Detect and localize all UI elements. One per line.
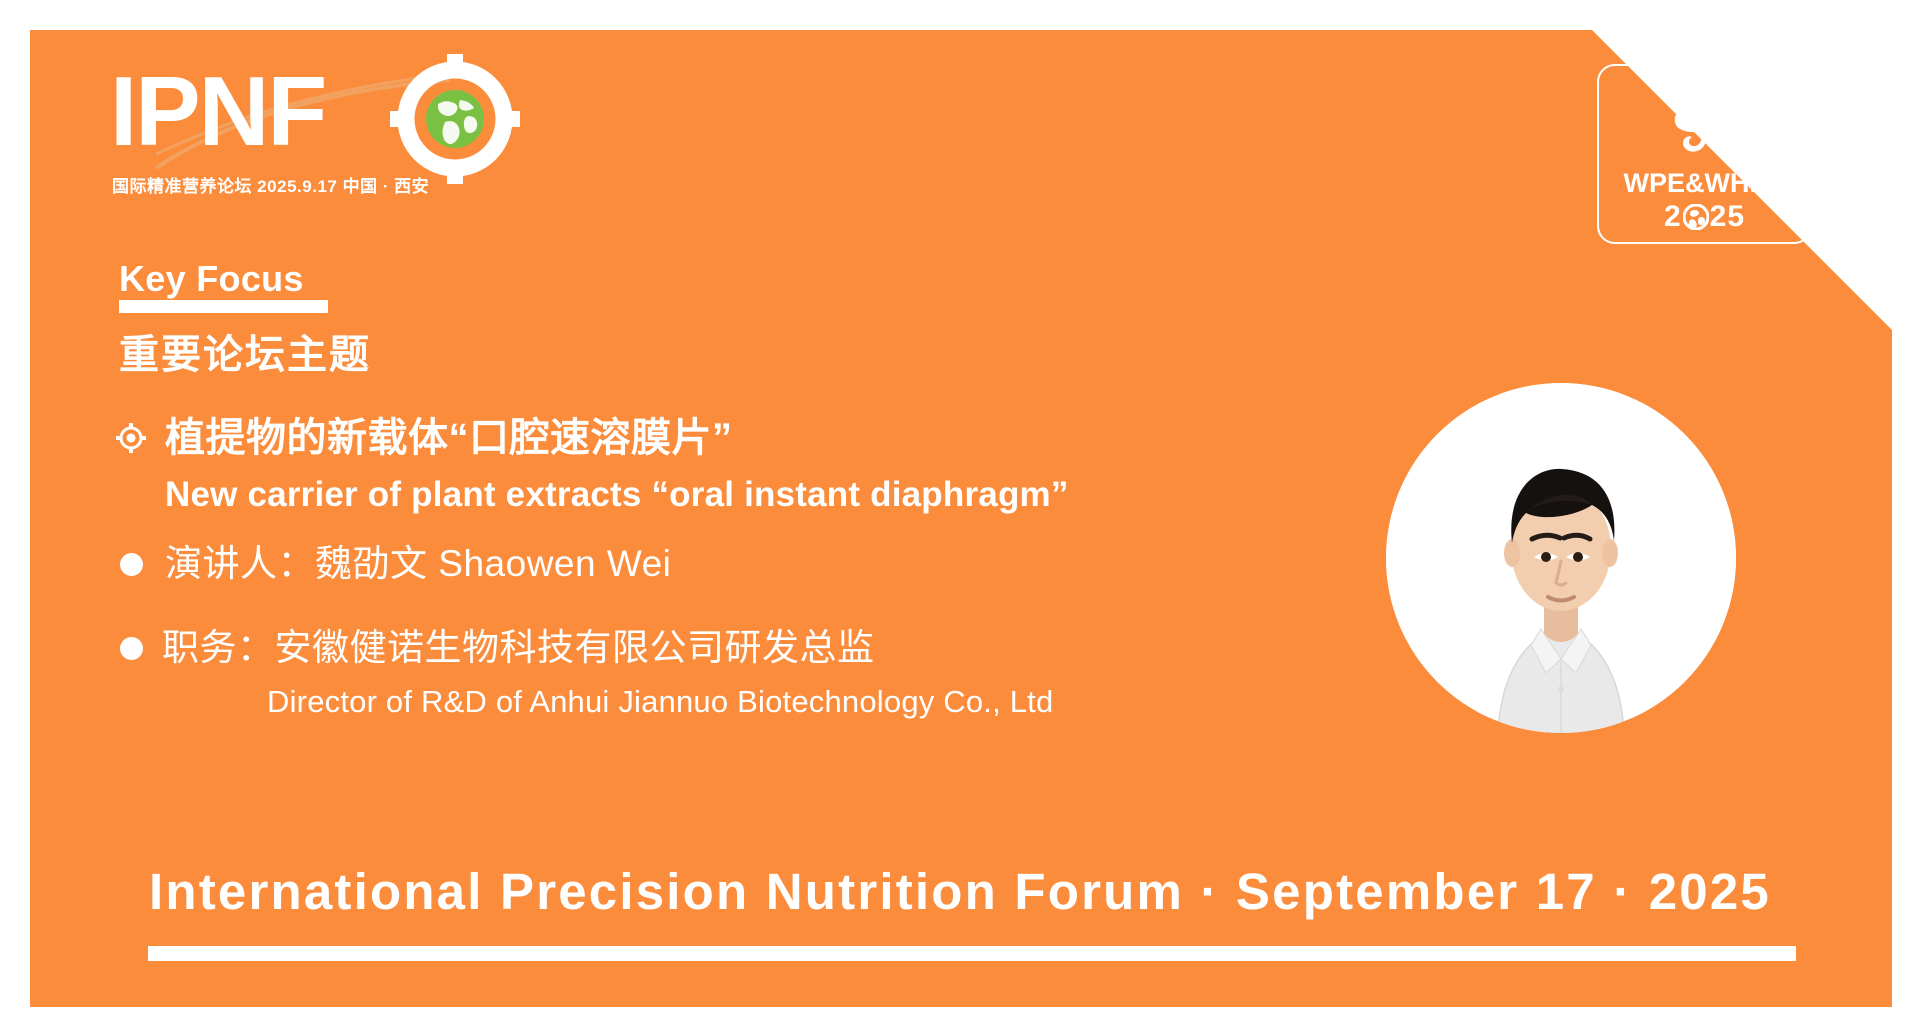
dot-bullet-icon <box>120 553 143 576</box>
bullet-topic-en: New carrier of plant extracts “oral inst… <box>165 475 1290 515</box>
globe-icon <box>1683 204 1709 230</box>
badge-year-suffix: 25 <box>1710 200 1745 234</box>
target-globe-icon <box>390 54 520 184</box>
portrait-photo <box>1386 383 1736 733</box>
badge-year-prefix: 2 <box>1664 200 1682 234</box>
dot-bullet-icon <box>120 637 143 660</box>
badge-name-text: WPE&WHPE <box>1624 168 1786 199</box>
bullet-speaker-cn: 演讲人：魏劭文 Shaowen Wei <box>165 541 1290 587</box>
logo-wordmark: IPNF <box>110 62 325 160</box>
wpe-whpe-badge: WPE&WHPE 2 25 <box>1597 64 1812 244</box>
bullet-item-topic: 植提物的新载体“口腔速溶膜片” New carrier of plant ext… <box>110 415 1290 515</box>
target-bullet-icon <box>116 423 146 453</box>
speaker-portrait <box>1386 383 1736 733</box>
key-focus-heading-en: Key Focus <box>119 258 304 300</box>
bullet-role-en: Director of R&D of Anhui Jiannuo Biotech… <box>267 683 1290 721</box>
footer-rule <box>148 946 1796 961</box>
key-focus-rule <box>119 300 328 313</box>
badge-year: 2 25 <box>1664 200 1745 234</box>
bullet-role-cn: 职务：安徽健诺生物科技有限公司研发总监 <box>162 625 1290 671</box>
bullet-topic-cn: 植提物的新载体“口腔速溶膜片” <box>165 415 1290 461</box>
key-focus-heading-cn: 重要论坛主题 <box>119 322 371 380</box>
bullet-item-speaker: 演讲人：魏劭文 Shaowen Wei <box>110 541 1290 587</box>
clover-flower-icon <box>1649 80 1761 164</box>
bullet-item-role: 职务：安徽健诺生物科技有限公司研发总监 Director of R&D of A… <box>110 625 1290 721</box>
slide-root: IPNF 国际精准营养论坛 2025.9.17 中国 · 西安 W <box>0 0 1920 1036</box>
bullet-list: 植提物的新载体“口腔速溶膜片” New carrier of plant ext… <box>110 415 1290 721</box>
ipnf-logo: IPNF 国际精准营养论坛 2025.9.17 中国 · 西安 <box>110 62 510 202</box>
logo-subtitle: 国际精准营养论坛 2025.9.17 中国 · 西安 <box>112 172 429 197</box>
footer-title: International Precision Nutrition Forum … <box>0 862 1920 921</box>
